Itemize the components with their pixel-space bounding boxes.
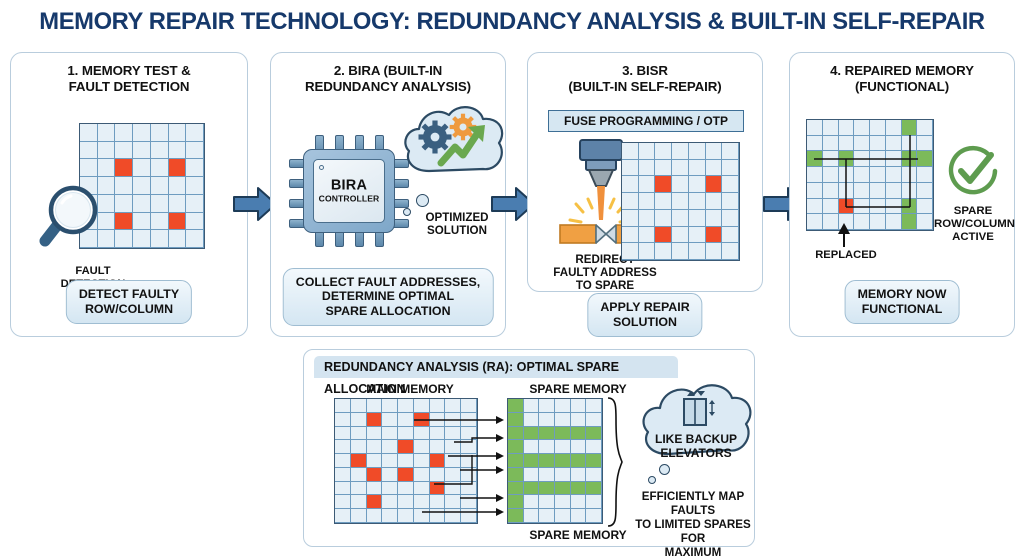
elevator-icon [678, 390, 718, 426]
memory-cell [689, 160, 706, 177]
faulty-cell [367, 468, 383, 482]
memory-cell [115, 230, 133, 248]
step-4-title: 4. REPAIRED MEMORY (FUNCTIONAL) [790, 63, 1014, 95]
memory-cell [571, 399, 587, 413]
ra-note-text: EFFICIENTLY MAP FAULTS TO LIMITED SPARES… [630, 490, 756, 559]
memory-cell [539, 509, 555, 523]
spare-cell [524, 427, 540, 441]
memory-cell [151, 230, 169, 248]
faulty-cell [115, 213, 133, 231]
memory-cell [672, 210, 689, 227]
memory-cell [382, 440, 398, 454]
memory-cell [115, 177, 133, 195]
memory-cell [335, 399, 351, 413]
memory-cell [571, 468, 587, 482]
memory-cell [186, 142, 204, 160]
memory-cell [655, 210, 672, 227]
memory-cell [133, 177, 151, 195]
step-panel-repaired: 4. REPAIRED MEMORY (FUNCTIONAL) [789, 52, 1015, 337]
memory-cell [351, 482, 367, 496]
ra-panel-header: REDUNDANCY ANALYSIS (RA): OPTIMAL SPARE … [314, 356, 678, 378]
step-1-footer: DETECT FAULTY ROW/COLUMN [66, 280, 192, 324]
spare-cell [539, 482, 555, 496]
spare-cell [508, 482, 524, 496]
spare-cell [524, 454, 540, 468]
memory-cell [689, 243, 706, 260]
spare-cell [555, 427, 571, 441]
memory-cell [186, 124, 204, 142]
spare-cell [586, 482, 602, 496]
memory-cell [524, 509, 540, 523]
memory-cell [622, 160, 639, 177]
faulty-cell [655, 176, 672, 193]
step-3-footer: APPLY REPAIR SOLUTION [587, 293, 702, 337]
magnifier-icon [35, 179, 115, 259]
spare-cell [586, 427, 602, 441]
optimized-solution-cloud [399, 101, 509, 193]
fuse-programming-bar: FUSE PROGRAMMING / OTP [548, 110, 744, 132]
memory-cell [672, 160, 689, 177]
memory-cell [351, 440, 367, 454]
memory-cell [586, 413, 602, 427]
spare-cell [508, 495, 524, 509]
memory-cell [335, 482, 351, 496]
memory-cell [335, 495, 351, 509]
memory-cell [689, 143, 706, 160]
chip-assembly: BIRA CONTROLLER [289, 135, 409, 247]
memory-cell [351, 495, 367, 509]
memory-cell [151, 159, 169, 177]
memory-cell [524, 495, 540, 509]
memory-cell [351, 468, 367, 482]
memory-cell [98, 124, 116, 142]
spare-cell [508, 413, 524, 427]
memory-cell [722, 160, 739, 177]
memory-cell [586, 399, 602, 413]
memory-cell [367, 440, 383, 454]
spare-active-label: SPARE ROW/COLUMN ACTIVE [934, 205, 1012, 244]
memory-cell [151, 142, 169, 160]
memory-cell [672, 243, 689, 260]
spare-cell [539, 427, 555, 441]
memory-cell [622, 143, 639, 160]
faulty-cell [367, 413, 383, 427]
memory-cell [539, 468, 555, 482]
memory-cell [722, 227, 739, 244]
memory-cell [639, 160, 656, 177]
spare-cell [571, 482, 587, 496]
step-panel-bisr: 3. BISR (BUILT-IN SELF-REPAIR) FUSE PROG… [527, 52, 763, 292]
spare-cell [571, 427, 587, 441]
step-panel-memory-test: 1. MEMORY TEST & FAULT DETECTION FAULT D… [10, 52, 248, 337]
spare-cell [508, 440, 524, 454]
memory-cell [524, 413, 540, 427]
chip-label: BIRA CONTROLLER [314, 177, 384, 203]
memory-cell [722, 210, 739, 227]
memory-cell [555, 440, 571, 454]
memory-cell [80, 142, 98, 160]
memory-cell [335, 509, 351, 523]
memory-cell [151, 213, 169, 231]
faulty-cell [367, 495, 383, 509]
memory-cell [655, 243, 672, 260]
fault-to-spare-arrows [404, 398, 514, 528]
spare-cell [555, 482, 571, 496]
memory-cell [186, 230, 204, 248]
memory-cell [335, 413, 351, 427]
memory-cell [169, 142, 187, 160]
backup-elevators-label: LIKE BACKUP ELEVATORS [640, 432, 752, 460]
memory-cell [133, 142, 151, 160]
memory-cell [98, 142, 116, 160]
memory-cell [689, 176, 706, 193]
faulty-cell [169, 159, 187, 177]
memory-cell [586, 495, 602, 509]
faulty-cell [706, 227, 723, 244]
memory-cell [672, 227, 689, 244]
memory-cell [367, 482, 383, 496]
memory-cell [351, 399, 367, 413]
memory-cell [622, 210, 639, 227]
faulty-cell [655, 227, 672, 244]
memory-cell [639, 193, 656, 210]
memory-cell [555, 399, 571, 413]
memory-cell [571, 495, 587, 509]
memory-cell [622, 176, 639, 193]
spare-cell [508, 468, 524, 482]
memory-cell [80, 159, 98, 177]
memory-cell [335, 468, 351, 482]
spare-memory-label-top: SPARE MEMORY [504, 382, 652, 396]
memory-cell [539, 495, 555, 509]
spare-cell [555, 454, 571, 468]
memory-cell [382, 482, 398, 496]
chip-body: BIRA CONTROLLER [303, 149, 395, 233]
memory-cell [586, 468, 602, 482]
memory-cell [571, 413, 587, 427]
memory-cell [571, 509, 587, 523]
faulty-cell [169, 213, 187, 231]
memory-cell [98, 159, 116, 177]
faulty-cell [115, 159, 133, 177]
memory-cell [335, 427, 351, 441]
memory-cell [151, 195, 169, 213]
step-4-footer: MEMORY NOW FUNCTIONAL [845, 280, 960, 324]
memory-cell [706, 193, 723, 210]
memory-cell [186, 195, 204, 213]
thought-bubble-dot [403, 208, 411, 216]
memory-cell [351, 427, 367, 441]
remap-routing-lines [806, 119, 934, 231]
step-3-title: 3. BISR (BUILT-IN SELF-REPAIR) [528, 63, 762, 95]
memory-cell [351, 413, 367, 427]
faulty-cell [351, 454, 367, 468]
memory-cell [335, 440, 351, 454]
memory-cell [655, 193, 672, 210]
memory-cell [133, 195, 151, 213]
memory-cell [722, 193, 739, 210]
memory-cell [169, 195, 187, 213]
diagram-root: MEMORY REPAIR TECHNOLOGY: REDUNDANCY ANA… [0, 0, 1024, 559]
memory-cell [689, 193, 706, 210]
memory-cell [722, 176, 739, 193]
memory-cell [335, 454, 351, 468]
spare-cell [508, 399, 524, 413]
memory-cell [689, 227, 706, 244]
memory-cell [639, 176, 656, 193]
memory-cell [622, 227, 639, 244]
thought-bubble-dot [659, 464, 670, 475]
memory-cell [655, 160, 672, 177]
replaced-label: REPLACED [800, 249, 892, 262]
memory-cell [586, 440, 602, 454]
memory-cell [571, 440, 587, 454]
memory-cell [115, 124, 133, 142]
memory-cell [151, 124, 169, 142]
memory-cell [524, 440, 540, 454]
chip-core: BIRA CONTROLLER [313, 159, 385, 223]
memory-cell [555, 495, 571, 509]
memory-cell [639, 243, 656, 260]
memory-cell [186, 159, 204, 177]
memory-cell [169, 230, 187, 248]
memory-cell [639, 210, 656, 227]
memory-cell [382, 413, 398, 427]
memory-cell [367, 427, 383, 441]
spare-cell [586, 454, 602, 468]
spare-cell [508, 454, 524, 468]
memory-cell [539, 440, 555, 454]
memory-cell [672, 193, 689, 210]
memory-cell [524, 399, 540, 413]
chip-orientation-dot [319, 165, 324, 170]
memory-cell [555, 413, 571, 427]
memory-cell [382, 468, 398, 482]
memory-cell [115, 142, 133, 160]
memory-cell [382, 454, 398, 468]
memory-cell [655, 143, 672, 160]
memory-cell [622, 193, 639, 210]
memory-cell [586, 509, 602, 523]
memory-cell [367, 454, 383, 468]
memory-cell [382, 399, 398, 413]
step-2-footer: COLLECT FAULT ADDRESSES, DETERMINE OPTIM… [283, 268, 494, 327]
memory-cell [169, 124, 187, 142]
main-memory-label: MAIN MEMORY [326, 382, 494, 396]
ra-panel: REDUNDANCY ANALYSIS (RA): OPTIMAL SPARE … [303, 349, 755, 547]
memory-cell [133, 124, 151, 142]
memory-cell [706, 243, 723, 260]
memory-cell [351, 509, 367, 523]
memory-cell [555, 509, 571, 523]
memory-cell [639, 143, 656, 160]
thought-bubble-dot [416, 194, 429, 207]
spare-cell [539, 454, 555, 468]
faulty-cell [706, 176, 723, 193]
memory-cell [186, 213, 204, 231]
memory-cell [706, 143, 723, 160]
spare-memory-grid [507, 398, 603, 524]
memory-cell [382, 427, 398, 441]
thought-bubble-dot [648, 476, 656, 484]
memory-cell [367, 399, 383, 413]
memory-grid-step3 [621, 142, 740, 261]
memory-cell [115, 195, 133, 213]
memory-cell [133, 213, 151, 231]
memory-cell [706, 210, 723, 227]
spare-cell [508, 427, 524, 441]
memory-cell [169, 177, 187, 195]
memory-cell [539, 413, 555, 427]
page-title: MEMORY REPAIR TECHNOLOGY: REDUNDANCY ANA… [15, 8, 1008, 36]
memory-cell [672, 176, 689, 193]
memory-cell [151, 177, 169, 195]
memory-cell [555, 468, 571, 482]
check-circle-icon [946, 145, 1000, 199]
memory-cell [639, 227, 656, 244]
memory-cell [133, 230, 151, 248]
memory-cell [722, 243, 739, 260]
step-panel-bira: 2. BIRA (BUILT-IN REDUNDANCY ANALYSIS) [270, 52, 506, 337]
memory-cell [622, 243, 639, 260]
step-2-title: 2. BIRA (BUILT-IN REDUNDANCY ANALYSIS) [271, 63, 505, 95]
memory-cell [672, 143, 689, 160]
spare-cell [508, 509, 524, 523]
memory-cell [382, 495, 398, 509]
memory-cell [133, 159, 151, 177]
memory-cell [722, 143, 739, 160]
memory-cell [367, 509, 383, 523]
spare-cell [571, 454, 587, 468]
spare-cell [524, 482, 540, 496]
memory-cell [382, 509, 398, 523]
replaced-arrow-icon [834, 221, 854, 249]
step-1-title: 1. MEMORY TEST & FAULT DETECTION [11, 63, 247, 95]
spare-group-brace [606, 396, 624, 528]
memory-cell [524, 468, 540, 482]
memory-cell [689, 210, 706, 227]
memory-cell [80, 124, 98, 142]
memory-cell [706, 160, 723, 177]
memory-cell [186, 177, 204, 195]
memory-cell [539, 399, 555, 413]
